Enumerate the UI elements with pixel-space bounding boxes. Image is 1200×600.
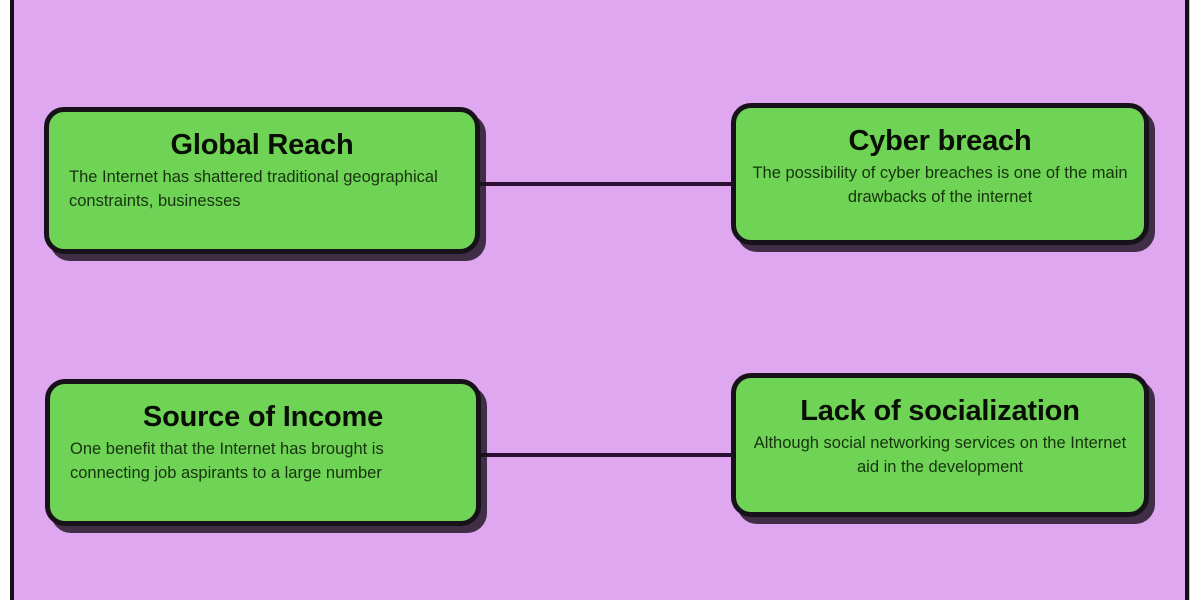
node-global-reach[interactable]: Global Reach The Internet has shattered …	[44, 107, 480, 254]
node-source-of-income-title: Source of Income	[143, 400, 383, 434]
node-source-of-income-description: One benefit that the Internet has brough…	[64, 438, 462, 485]
connector-source-of-income-to-lack-of-socialization	[478, 453, 733, 457]
right-border-rule	[1185, 0, 1189, 600]
node-source-of-income[interactable]: Source of Income One benefit that the In…	[45, 379, 481, 526]
left-border-rule	[10, 0, 14, 600]
connector-global-reach-to-cyber-breach	[478, 182, 733, 186]
node-lack-of-socialization-description: Although social networking services on t…	[750, 432, 1130, 479]
node-cyber-breach-description: The possibility of cyber breaches is one…	[750, 162, 1130, 209]
node-global-reach-title: Global Reach	[171, 128, 354, 162]
diagram-canvas: Global Reach The Internet has shattered …	[0, 0, 1200, 600]
node-global-reach-description: The Internet has shattered traditional g…	[63, 166, 461, 213]
node-cyber-breach[interactable]: Cyber breach The possibility of cyber br…	[731, 103, 1149, 245]
node-lack-of-socialization-title: Lack of socialization	[800, 394, 1079, 428]
node-cyber-breach-title: Cyber breach	[849, 124, 1032, 158]
node-lack-of-socialization[interactable]: Lack of socialization Although social ne…	[731, 373, 1149, 517]
